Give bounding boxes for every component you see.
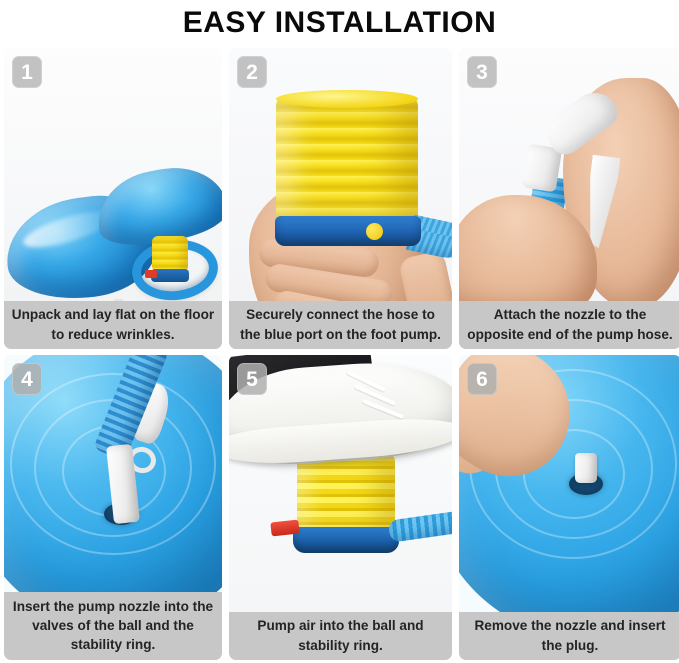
step-caption-1: Unpack and lay flat on the floor to redu…: [4, 301, 222, 349]
pump-bellows-icon: [152, 236, 188, 272]
steps-grid: 1 Unpack and lay flat on the floor to re…: [4, 48, 675, 660]
pump-red-valve-icon: [270, 520, 299, 537]
step-card-6: 6 Remove the nozzle and insert the plug.: [459, 355, 679, 660]
step-badge-3: 3: [467, 56, 497, 88]
page-title: EASY INSTALLATION: [0, 0, 679, 45]
pump-base-band: [293, 527, 399, 553]
step-caption-3: Attach the nozzle to the opposite end of…: [459, 301, 679, 349]
step-card-2: 2 Securely connect the hose to the blue …: [229, 48, 452, 349]
step-image-3: 3: [459, 48, 679, 301]
step-caption-2: Securely connect the hose to the blue po…: [229, 301, 452, 349]
step-badge-4: 4: [12, 363, 42, 395]
step-card-1: 1 Unpack and lay flat on the floor to re…: [4, 48, 222, 349]
valve-plug-icon: [575, 453, 597, 483]
step-card-5: 5 Pump air into the ball and stability r…: [229, 355, 452, 660]
easy-installation-infographic: EASY INSTALLATION 1 Unpack and: [0, 0, 679, 663]
step-card-4: 4 Insert the pump nozzle into the valves…: [4, 355, 222, 660]
pump-base-band: [275, 216, 421, 246]
step-image-6: 6: [459, 355, 679, 612]
step-badge-2: 2: [237, 56, 267, 88]
step-caption-5: Pump air into the ball and stability rin…: [229, 612, 452, 660]
step-image-5: 5: [229, 355, 452, 612]
step-caption-6: Remove the nozzle and insert the plug.: [459, 612, 679, 660]
step-image-4: 4: [4, 355, 222, 592]
step-image-1: 1: [4, 48, 222, 301]
pump-bellows-icon: [297, 455, 395, 533]
step-badge-5: 5: [237, 363, 267, 395]
step-badge-1: 1: [12, 56, 42, 88]
step-badge-6: 6: [467, 363, 497, 395]
step-image-2: 2: [229, 48, 452, 301]
plug-pieces-icon: [112, 298, 138, 301]
step-card-3: 3 Attach the nozzle to the opposite end …: [459, 48, 679, 349]
pump-bellows-icon: [276, 96, 418, 220]
step-caption-4: Insert the pump nozzle into the valves o…: [4, 592, 222, 660]
pump-red-valve-icon: [145, 270, 157, 278]
foot-pump-icon: [152, 236, 188, 284]
